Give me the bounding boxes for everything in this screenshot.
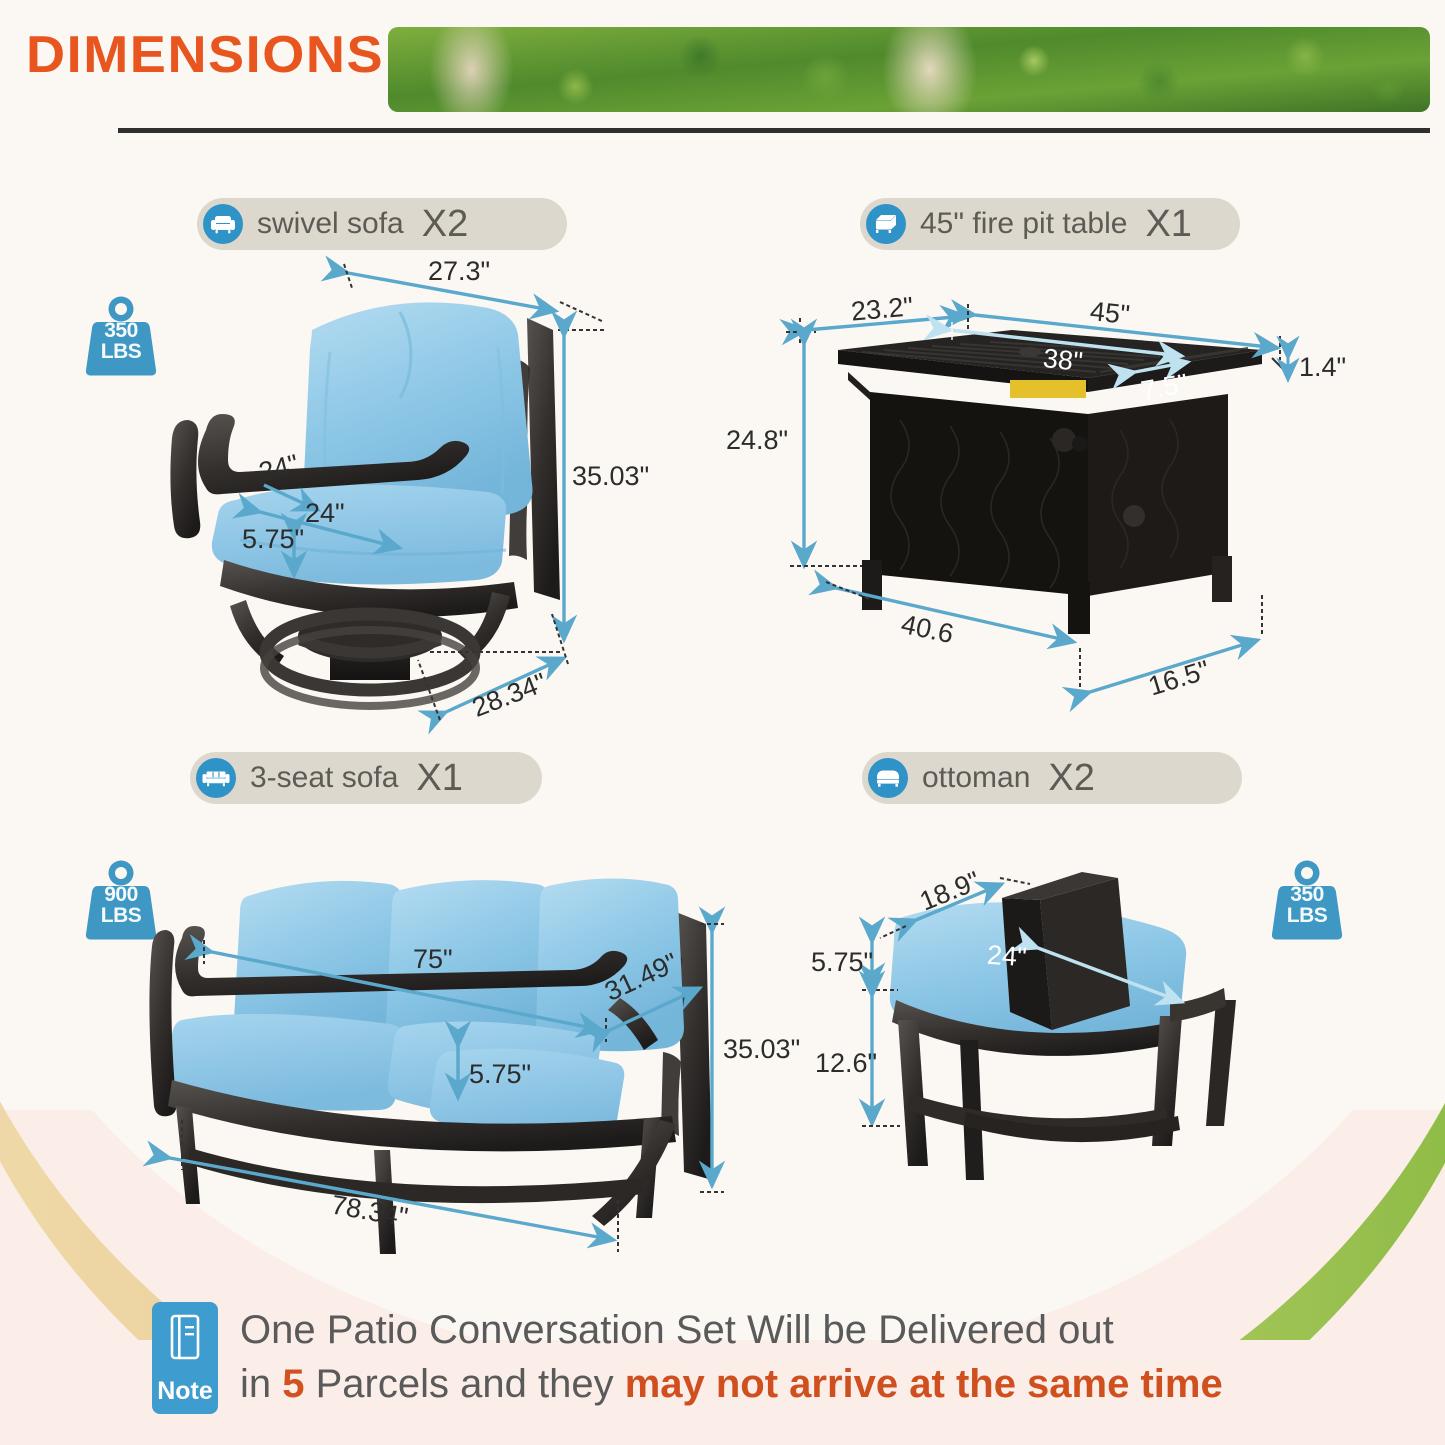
dim-sofa3-seating-width: 75": [413, 944, 453, 975]
product-qty: X2: [1048, 757, 1094, 800]
dim-swivel-cushion-thickness: 5.75": [242, 524, 304, 555]
dim-ottoman-frame-height: 12.6": [815, 1048, 877, 1079]
parcel-count: 5: [282, 1362, 304, 1406]
product-label-3-seat-sofa: 3-seat sofa X1: [190, 752, 542, 804]
sofa-icon: [196, 758, 236, 798]
weight-value: 350: [1290, 883, 1324, 906]
weight-badge-3-seat-sofa: 900LBS: [82, 858, 160, 940]
dim-firepit-top-width: 45": [1088, 296, 1131, 331]
product-label-text: 3-seat sofa: [250, 761, 398, 795]
weight-value: 900: [104, 883, 138, 906]
header-banner-image: [388, 27, 1430, 112]
document-icon: [169, 1314, 201, 1365]
page-title: DIMENSIONS: [26, 25, 384, 85]
dim-ottoman-width: 24": [986, 940, 1028, 974]
dim-swivel-width-top: 27.3": [428, 256, 490, 287]
product-label-swivel-sofa: swivel sofa X2: [197, 198, 567, 250]
note-line2-pre: in: [240, 1362, 282, 1406]
product-label-fire-pit-table: 45" fire pit table X1: [860, 198, 1240, 250]
decorative-swoosh: [0, 1060, 1445, 1340]
weight-badge-ottoman: 350LBS: [1268, 858, 1346, 940]
weight-unit: LBS: [101, 340, 142, 363]
background-top: [0, 0, 1445, 1155]
weight-unit: LBS: [1287, 904, 1328, 927]
product-label-text: swivel sofa: [257, 207, 404, 241]
header-divider: [118, 128, 1430, 133]
note-line2-mid: Parcels and they: [305, 1362, 625, 1406]
dim-swivel-height: 35.03": [572, 461, 649, 492]
dim-firepit-top-depth: 23.2": [850, 291, 915, 327]
weight-value: 350: [104, 319, 138, 342]
note-line-2: in 5 Parcels and they may not arrive at …: [240, 1362, 1223, 1407]
ottoman-icon: [868, 758, 908, 798]
dim-firepit-lid-width: 38": [1041, 343, 1084, 378]
product-qty: X1: [416, 757, 462, 800]
infographic-page: DIMENSIONS swivel sofa X2 45" fire pit t…: [0, 0, 1445, 1445]
note-badge-label: Note: [152, 1377, 218, 1406]
dim-sofa3-height: 35.03": [723, 1034, 800, 1065]
weight-badge-swivel-sofa: 350LBS: [82, 294, 160, 376]
product-qty: X2: [422, 203, 468, 246]
dim-ottoman-cushion-thickness: 5.75": [811, 947, 873, 978]
product-label-text: ottoman: [922, 761, 1030, 795]
dim-firepit-top-thickness: 1.4": [1299, 352, 1346, 383]
note-line-1: One Patio Conversation Set Will be Deliv…: [240, 1308, 1114, 1353]
weight-unit: LBS: [101, 904, 142, 927]
product-label-ottoman: ottoman X2: [862, 752, 1242, 804]
armchair-icon: [203, 204, 243, 244]
note-badge: Note: [152, 1302, 218, 1414]
note-warning-text: may not arrive at the same time: [625, 1362, 1223, 1406]
dim-swivel-seat-width: 24": [305, 498, 345, 529]
table-icon: [866, 204, 906, 244]
dim-firepit-height: 24.8": [726, 425, 788, 456]
product-qty: X1: [1145, 203, 1191, 246]
product-label-text: 45" fire pit table: [920, 207, 1127, 241]
dim-sofa3-cushion-thickness: 5.75": [469, 1059, 531, 1090]
